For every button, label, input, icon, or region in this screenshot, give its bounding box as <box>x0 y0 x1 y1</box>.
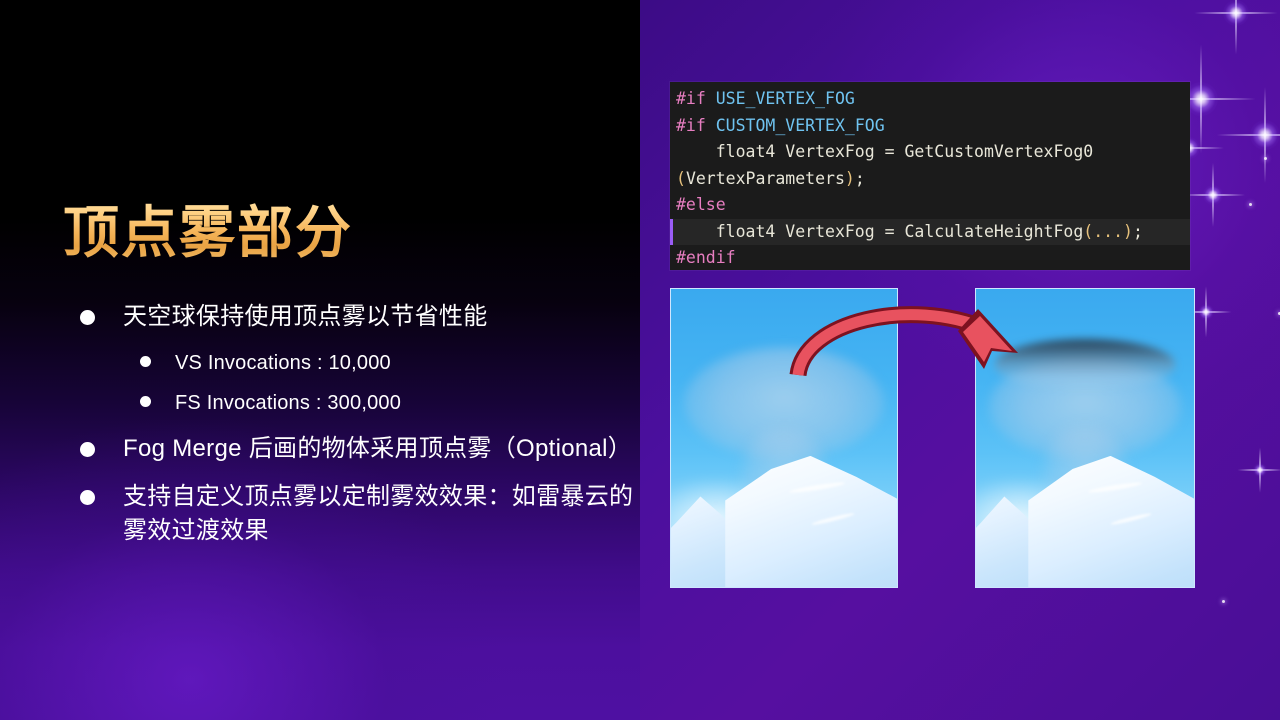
figure-after-image <box>975 288 1195 588</box>
figure-before-image <box>670 288 898 588</box>
code-token: ( <box>1083 222 1093 241</box>
bullet-text: VS Invocations : 10,000 <box>175 348 391 378</box>
bullet-text: 支持自定义顶点雾以定制雾效效果：如雷暴云的雾效过渡效果 <box>123 480 640 548</box>
star-icon <box>1203 185 1223 205</box>
code-token: ; <box>1133 222 1143 241</box>
star-dot-icon <box>1222 600 1225 603</box>
star-icon <box>1250 120 1280 150</box>
code-token: #if <box>676 116 716 135</box>
code-line: #if CUSTOM_VERTEX_FOG <box>670 113 1190 140</box>
bullet-dot-icon <box>140 396 151 407</box>
code-line: float4 VertexFog = CalculateHeightFog(..… <box>670 219 1190 246</box>
left-content-panel: 顶点雾部分 天空球保持使用顶点雾以节省性能 VS Invocations : 1… <box>0 0 640 720</box>
page-title: 顶点雾部分 <box>63 188 353 269</box>
list-item: 天空球保持使用顶点雾以节省性能 <box>80 300 640 334</box>
code-token: ) <box>1123 222 1133 241</box>
code-token: CUSTOM_VERTEX_FOG <box>716 116 885 135</box>
code-token: #if <box>676 89 716 108</box>
list-item: Fog Merge 后画的物体采用顶点雾（Optional） <box>80 432 640 466</box>
code-token: float4 VertexFog = CalculateHeightFog <box>676 222 1083 241</box>
bullet-list: 天空球保持使用顶点雾以节省性能 VS Invocations : 10,000 … <box>80 300 640 560</box>
code-token: VertexParameters <box>686 169 845 188</box>
code-token: #else <box>676 195 726 214</box>
presentation-slide: 顶点雾部分 天空球保持使用顶点雾以节省性能 VS Invocations : 1… <box>0 0 1280 720</box>
code-token: ) <box>845 169 855 188</box>
code-line: #endif <box>670 245 1190 270</box>
code-token: ... <box>1093 222 1123 241</box>
star-dot-icon <box>1264 157 1267 160</box>
code-snippet: #if USE_VERTEX_FOG#if CUSTOM_VERTEX_FOG … <box>670 82 1190 270</box>
code-token: USE_VERTEX_FOG <box>716 89 855 108</box>
star-dot-icon <box>1249 203 1252 206</box>
star-icon <box>1198 304 1214 320</box>
code-line: (VertexParameters); <box>670 166 1190 193</box>
bullet-dot-icon <box>80 310 95 325</box>
list-item: 支持自定义顶点雾以定制雾效效果：如雷暴云的雾效过渡效果 <box>80 480 640 548</box>
star-icon <box>1253 463 1267 477</box>
code-token: ; <box>855 169 865 188</box>
code-token: ( <box>676 169 686 188</box>
code-line: #else <box>670 192 1190 219</box>
bullet-text: Fog Merge 后画的物体采用顶点雾（Optional） <box>123 432 632 466</box>
bullet-dot-icon <box>80 490 95 505</box>
code-token: float4 VertexFog = GetCustomVertexFog0 <box>676 142 1093 161</box>
bullet-dot-icon <box>140 356 151 367</box>
bullet-dot-icon <box>80 442 95 457</box>
code-line: #if USE_VERTEX_FOG <box>670 86 1190 113</box>
cloud-fog-cap <box>995 339 1175 389</box>
code-token: #endif <box>676 248 736 267</box>
star-icon <box>1223 0 1249 26</box>
bullet-text: FS Invocations : 300,000 <box>175 388 401 418</box>
list-item: FS Invocations : 300,000 <box>80 388 640 418</box>
bullet-text: 天空球保持使用顶点雾以节省性能 <box>123 300 488 334</box>
list-item: VS Invocations : 10,000 <box>80 348 640 378</box>
code-line: float4 VertexFog = GetCustomVertexFog0 <box>670 139 1190 166</box>
